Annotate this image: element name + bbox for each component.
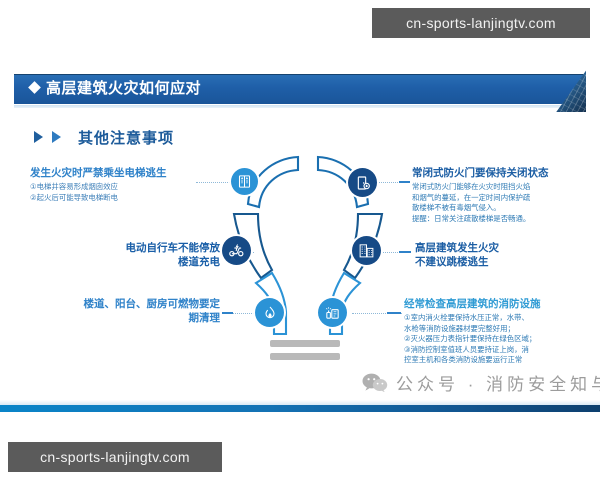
footer-blue-rule [0,405,600,412]
right-item-2: 高层建筑发生火灾 不建议跳楼逃生 [415,241,595,269]
left-item-2-title-line1: 电动自行车不能停放 [50,241,220,255]
wechat-footer: 公众号 · 消防安全知与行 [362,370,600,395]
right-item-3-detail-5: 控室主机和各类消防设施要运行正常 [404,355,600,366]
left-item-3: 楼道、阳台、厨房可燃物要定 期清理 [28,297,220,325]
right-item-1: 常闭式防火门要保持关闭状态 常闭式防火门能够在火灾时阻挡火焰 和烟气的蔓延，在一… [412,166,598,224]
right-item-1-title: 常闭式防火门要保持关闭状态 [412,166,598,180]
watermark-top: cn-sports-lanjingtv.com [372,8,590,38]
right-item-3-title: 经常检查高层建筑的消防设施 [404,297,600,311]
right-item-3-detail-2: 水枪等消防设施器材要完整好用； [404,324,600,335]
section-heading: 其他注意事项 [34,126,174,148]
fire-equipment-icon[interactable] [318,298,347,327]
left-item-1-title: 发生火灾时严禁乘坐电梯逃生 [30,166,230,180]
connector-dash-right-1 [399,181,410,183]
flame-icon[interactable] [255,298,284,327]
elevator-icon[interactable] [231,168,258,195]
right-item-2-title-line1: 高层建筑发生火灾 [415,241,595,255]
right-item-1-detail-1: 常闭式防火门能够在火灾时阻挡火焰 [412,182,598,193]
slide-canvas: cn-sports-lanjingtv.com 高层建筑火灾如何应对 其他注意事… [0,0,600,480]
right-item-3: 经常检查高层建筑的消防设施 ①室内消火栓要保持水压正常，水带、 水枪等消防设施器… [404,297,600,366]
left-item-1: 发生火灾时严禁乘坐电梯逃生 ①电梯井容易形成烟囱效应 ②起火后可能导致电梯断电 [30,166,230,203]
connector-dash-right-3 [387,312,401,314]
page-title: 高层建筑火灾如何应对 [30,74,201,104]
double-triangle-icon-2 [52,131,61,143]
double-triangle-icon [34,131,43,143]
left-item-2-title-line2: 楼道充电 [50,255,220,269]
connector-dash-right-2 [399,251,411,253]
right-item-3-detail-1: ①室内消火栓要保持水压正常，水带、 [404,313,600,324]
left-item-3-title-line2: 期清理 [28,311,220,325]
right-item-3-detail-3: ②灭火器压力表指针要保持在绿色区域； [404,334,600,345]
section-title: 其他注意事项 [78,127,174,148]
wechat-icon [362,373,388,392]
right-item-1-detail-4: 提醒：日常关注疏散楼梯是否畅通。 [412,214,598,225]
fire-door-icon[interactable] [348,168,377,197]
left-item-1-detail-2: ②起火后可能导致电梯断电 [30,193,230,204]
left-item-1-detail-1: ①电梯井容易形成烟囱效应 [30,182,230,193]
diamond-icon [28,81,41,94]
wechat-account-text: 公众号 · 消防安全知与行 [396,370,600,395]
bulb-base-bar-2 [270,353,340,360]
electric-bike-icon[interactable] [222,236,251,265]
right-item-2-title-line2: 不建议跳楼逃生 [415,255,595,269]
watermark-bottom: cn-sports-lanjingtv.com [8,442,222,472]
header-banner: 高层建筑火灾如何应对 [14,74,586,104]
left-item-3-title-line1: 楼道、阳台、厨房可燃物要定 [28,297,220,311]
bulb-base-bar-1 [270,340,340,347]
building-icon[interactable] [352,236,381,265]
right-item-3-detail-4: ③消防控制室值班人员要持证上岗，消 [404,345,600,356]
page-title-text: 高层建筑火灾如何应对 [46,80,201,97]
right-item-1-detail-2: 和烟气的蔓延，在一定时间内保护疏 [412,193,598,204]
left-item-2: 电动自行车不能停放 楼道充电 [50,241,220,269]
right-item-1-detail-3: 散楼梯不被有毒烟气侵入。 [412,203,598,214]
